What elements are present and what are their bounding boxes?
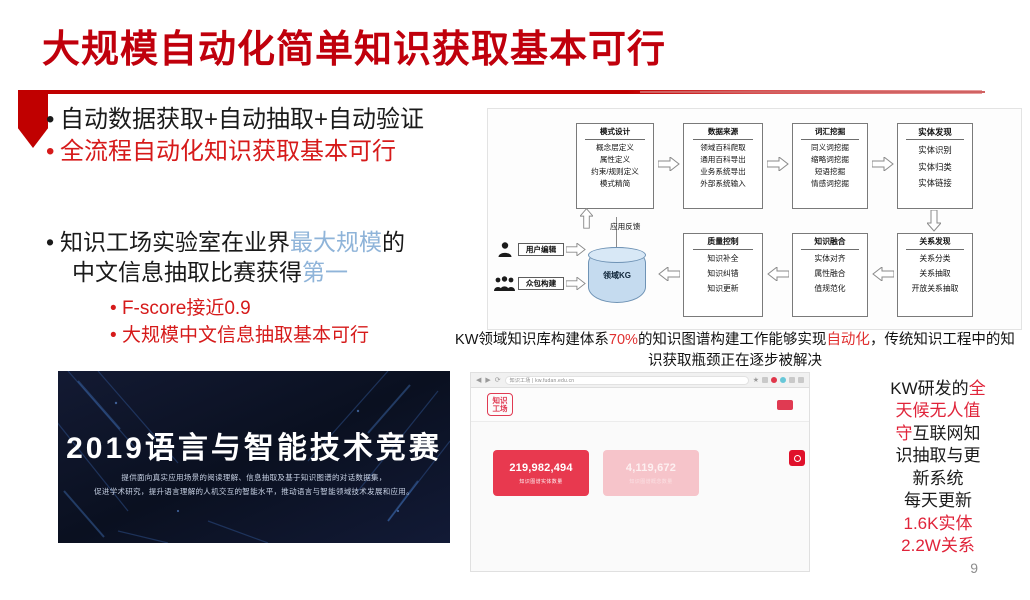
sub-bullet-item: • F-score接近0.9	[110, 296, 496, 323]
arrow-left-icon	[767, 267, 789, 281]
paragraph-line-1: •知识工场实验室在业界最大规模的	[46, 228, 496, 258]
stat-card-entities: 219,982,494 知识图谱实体数量	[493, 450, 589, 496]
bullet-block-secondary: •知识工场实验室在业界最大规模的 中文信息抽取比赛获得第一 • F-score接…	[46, 228, 496, 350]
forward-icon[interactable]: ▶	[485, 377, 490, 384]
sub-bullet-list: • F-score接近0.9 • 大规模中文信息抽取基本可行	[46, 296, 496, 350]
stat-card-concepts: 4,119,672 知识图谱概念数量	[603, 450, 699, 496]
flow-caption: KW领域知识库构建体系70%的知识图谱构建工作能够实现自动化，传统知识工程中的知…	[455, 330, 1015, 372]
arrow-right-icon	[566, 277, 586, 290]
arrow-right-icon	[566, 243, 586, 256]
red-arrow-marker	[18, 90, 48, 148]
extension-icon-red[interactable]	[771, 377, 777, 383]
browser-toolbar: ◀ ▶ ⟳ 知识工场 | kw.fudan.edu.cn ★	[471, 373, 809, 388]
browser-screenshot: ◀ ▶ ⟳ 知识工场 | kw.fudan.edu.cn ★ 知识 工场	[470, 372, 810, 572]
kw-logo[interactable]: 知识 工场	[487, 393, 513, 416]
browser-extension-icons[interactable]: ★	[753, 377, 804, 384]
note-line-entities: 1.6K实体	[862, 513, 1014, 535]
bullet-line-2: •全流程自动化知识获取基本可行	[46, 136, 516, 168]
slide-root: 大规模自动化简单知识获取基本可行 •自动数据获取+自动抽取+自动验证 •全流程自…	[0, 0, 1030, 600]
note-line-1: KW研发的全	[862, 378, 1014, 400]
arrow-right-icon	[872, 157, 894, 171]
note-line-6: 每天更新	[862, 490, 1014, 512]
arrow-right-icon	[658, 157, 680, 171]
flow-box-data-source: 数据来源 领域百科爬取 通用百科导出 业务系统导出 外部系统输入	[683, 123, 763, 209]
extension-icon-cyan[interactable]	[780, 377, 786, 383]
bullet-dot-icon: •	[46, 228, 60, 258]
arrow-left-icon	[658, 267, 680, 281]
back-icon[interactable]: ◀	[476, 377, 481, 384]
flow-box-lexicon-mining: 词汇挖掘 同义词挖掘 缩略词挖掘 短语挖掘 情感词挖掘	[792, 123, 868, 209]
flow-box-schema-design: 模式设计 概念层定义 属性定义 约束/规则定义 模式精简	[576, 123, 654, 209]
caption-percent: 70%	[609, 332, 638, 348]
arrow-left-icon	[872, 267, 894, 281]
input-box-crowdsourcing: 众包构建	[518, 277, 564, 290]
site-body: 219,982,494 知识图谱实体数量 4,119,672 知识图谱概念数量	[471, 422, 809, 571]
extension-icon[interactable]	[762, 377, 768, 383]
competition-banner-image: 2019语言与智能技术竞赛 提供面向真实应用场景的阅读理解、信息抽取及基于知识图…	[58, 371, 450, 543]
arrow-right-icon	[767, 157, 789, 171]
banner-subtitle: 提供面向真实应用场景的阅读理解、信息抽取及基于知识图谱的对话数据集， 促进学术研…	[86, 471, 422, 499]
note-line-2: 天候无人值	[862, 400, 1014, 422]
site-header: 知识 工场	[471, 388, 809, 422]
kg-construction-flow-diagram: 模式设计 概念层定义 属性定义 约束/规则定义 模式精简 数据来源 领域百科爬取…	[487, 108, 1022, 330]
banner-title: 2019语言与智能技术竞赛	[58, 423, 450, 467]
browser-nav-controls[interactable]: ◀ ▶ ⟳	[476, 377, 501, 384]
floating-action-button[interactable]	[789, 450, 805, 466]
sub-bullet-item: • 大规模中文信息抽取基本可行	[110, 323, 496, 350]
page-number: 9	[970, 560, 978, 576]
flow-box-entity-discovery: 实体发现 实体识别 实体归类 实体链接	[897, 123, 973, 209]
note-line-5: 新系统	[862, 468, 1014, 490]
browser-menu-icon[interactable]	[798, 377, 804, 383]
paragraph-line-2: 中文信息抽取比赛获得第一	[46, 258, 496, 288]
bullet-block-primary: •自动数据获取+自动抽取+自动验证 •全流程自动化知识获取基本可行	[46, 104, 516, 167]
highlight-first-place: 第一	[302, 259, 348, 285]
caption-automation: 自动化	[826, 332, 870, 348]
page-title: 大规模自动化简单知识获取基本可行	[42, 18, 666, 73]
bullet-dot-icon: •	[46, 136, 60, 168]
title-divider-thin	[640, 91, 985, 93]
crowd-icon	[494, 275, 515, 296]
flow-box-relation-discovery: 关系发现 关系分类 关系抽取 开放关系抽取	[897, 233, 973, 317]
note-line-4: 识抽取与更	[862, 445, 1014, 467]
flow-box-knowledge-fusion: 知识融合 实体对齐 属性融合 值规范化	[792, 233, 868, 317]
bullet-dot-icon: •	[46, 104, 60, 136]
browser-address-bar[interactable]: 知识工场 | kw.fudan.edu.cn	[505, 376, 749, 385]
reload-icon[interactable]: ⟳	[495, 377, 501, 384]
target-icon	[794, 455, 801, 462]
bookmark-star-icon[interactable]: ★	[753, 377, 759, 384]
input-box-user-edit: 用户编辑	[518, 243, 564, 256]
arrow-down-icon	[927, 210, 941, 232]
bullet-line-1: •自动数据获取+自动抽取+自动验证	[46, 104, 516, 136]
stat-card-list: 219,982,494 知识图谱实体数量 4,119,672 知识图谱概念数量	[493, 450, 809, 496]
user-icon	[497, 241, 513, 262]
highlight-largest-scale: 最大规模	[290, 229, 382, 255]
header-action-button[interactable]	[777, 400, 793, 410]
arrow-up-icon	[580, 207, 593, 229]
system-note: KW研发的全 天候无人值 守互联网知 识抽取与更 新系统 每天更新 1.6K实体…	[862, 378, 1014, 558]
domain-kg-cylinder: 领域KG	[588, 247, 646, 303]
extension-icon[interactable]	[789, 377, 795, 383]
note-line-relations: 2.2W关系	[862, 535, 1014, 557]
flow-box-quality-control: 质量控制 知识补全 知识纠错 知识更新	[683, 233, 763, 317]
note-line-3: 守互联网知	[862, 423, 1014, 445]
feedback-label: 应用反馈	[610, 221, 640, 232]
